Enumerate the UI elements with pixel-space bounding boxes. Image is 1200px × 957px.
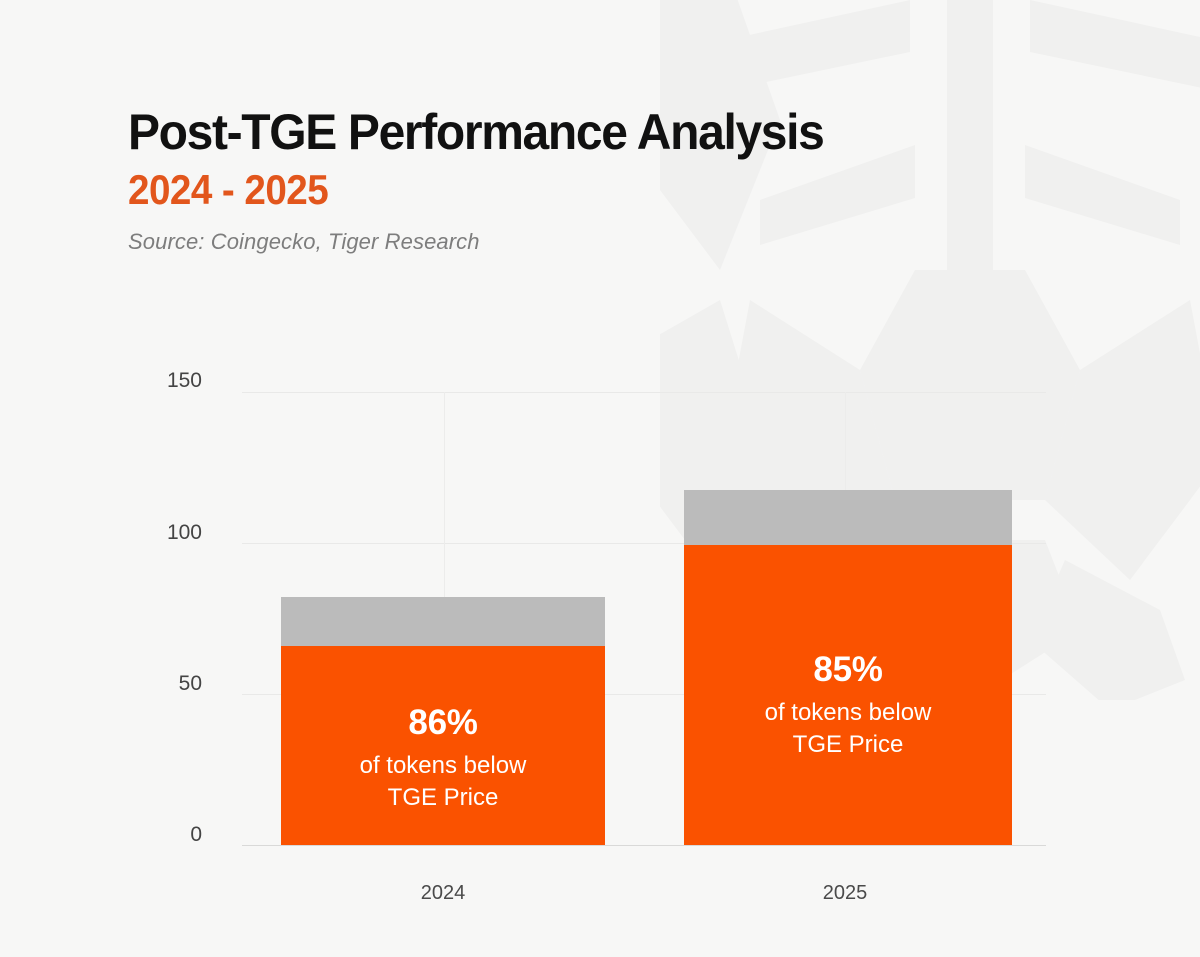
y-axis-tick-50: 50 xyxy=(132,672,202,696)
axis-baseline-y-0 xyxy=(242,845,1046,846)
bar-2025-segment-below[interactable] xyxy=(684,545,1012,845)
y-axis-tick-0: 0 xyxy=(132,823,202,847)
bar-2024-segment-above[interactable] xyxy=(281,597,605,646)
x-axis-tick-2024: 2024 xyxy=(421,882,466,905)
x-axis-tick-2025: 2025 xyxy=(823,882,868,905)
bar-2025-segment-above[interactable] xyxy=(684,490,1012,545)
gridline-y-150 xyxy=(242,392,1046,393)
page-title: Post-TGE Performance Analysis xyxy=(128,106,823,159)
source-attribution: Source: Coingecko, Tiger Research xyxy=(128,229,852,255)
bar-2024[interactable]: 86% of tokens below TGE Price xyxy=(281,597,605,845)
y-axis-tick-100: 100 xyxy=(132,521,202,545)
bar-2025[interactable]: 85% of tokens below TGE Price xyxy=(684,490,1012,845)
page-subtitle: 2024 - 2025 xyxy=(128,167,795,213)
y-axis-tick-150: 150 xyxy=(132,369,202,393)
bar-2024-segment-below[interactable] xyxy=(281,646,605,845)
header-block: Post-TGE Performance Analysis 2024 - 202… xyxy=(128,106,852,255)
chart-canvas: Post-TGE Performance Analysis 2024 - 202… xyxy=(0,0,1200,957)
